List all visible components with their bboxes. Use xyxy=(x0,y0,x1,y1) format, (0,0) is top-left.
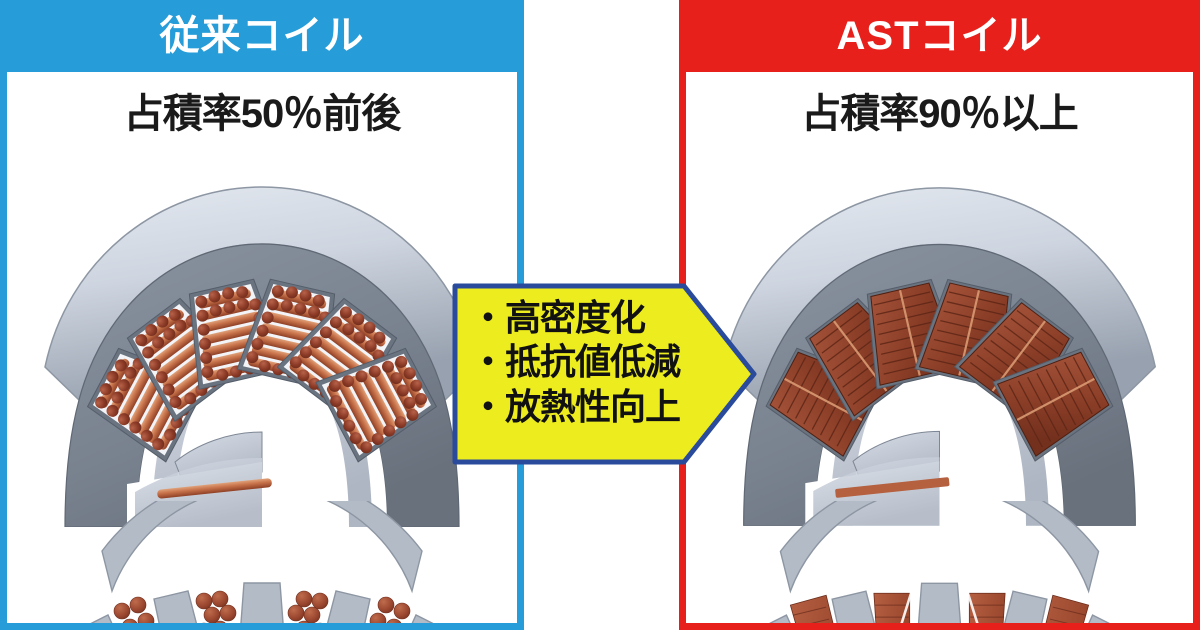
benefit-item-1: ・高密度化 xyxy=(470,297,710,339)
caption-conventional: 占積率50％前後 xyxy=(7,94,517,134)
benefit-item-3: ・放熱性向上 xyxy=(470,386,710,428)
panel-ast: ASTコイル 占積率90％以上 xyxy=(679,0,1200,630)
comparison-figure: 従来コイル 占積率50％前後 xyxy=(0,0,1200,630)
panel-header-ast: ASTコイル xyxy=(679,0,1200,72)
ast-slot-cross-section xyxy=(686,501,1193,623)
benefits-list: ・高密度化 ・抵抗値低減 ・放熱性向上 xyxy=(470,297,710,428)
conventional-slot-cross-section xyxy=(7,501,517,623)
panel-title-conventional: 従来コイル xyxy=(160,16,365,56)
panel-title-ast: ASTコイル xyxy=(837,16,1043,56)
benefit-item-2: ・抵抗値低減 xyxy=(470,341,710,383)
caption-ast: 占積率90％以上 xyxy=(686,94,1193,134)
benefits-arrow-callout: ・高密度化 ・抵抗値低減 ・放熱性向上 xyxy=(452,283,757,465)
ast-stator-3d xyxy=(686,132,1193,527)
panel-body-conventional: 占積率50％前後 xyxy=(7,72,517,623)
panel-header-conventional: 従来コイル xyxy=(0,0,524,72)
panel-conventional: 従来コイル 占積率50％前後 xyxy=(0,0,524,630)
panel-body-ast: 占積率90％以上 xyxy=(686,72,1193,623)
conventional-stator-3d xyxy=(7,132,517,527)
